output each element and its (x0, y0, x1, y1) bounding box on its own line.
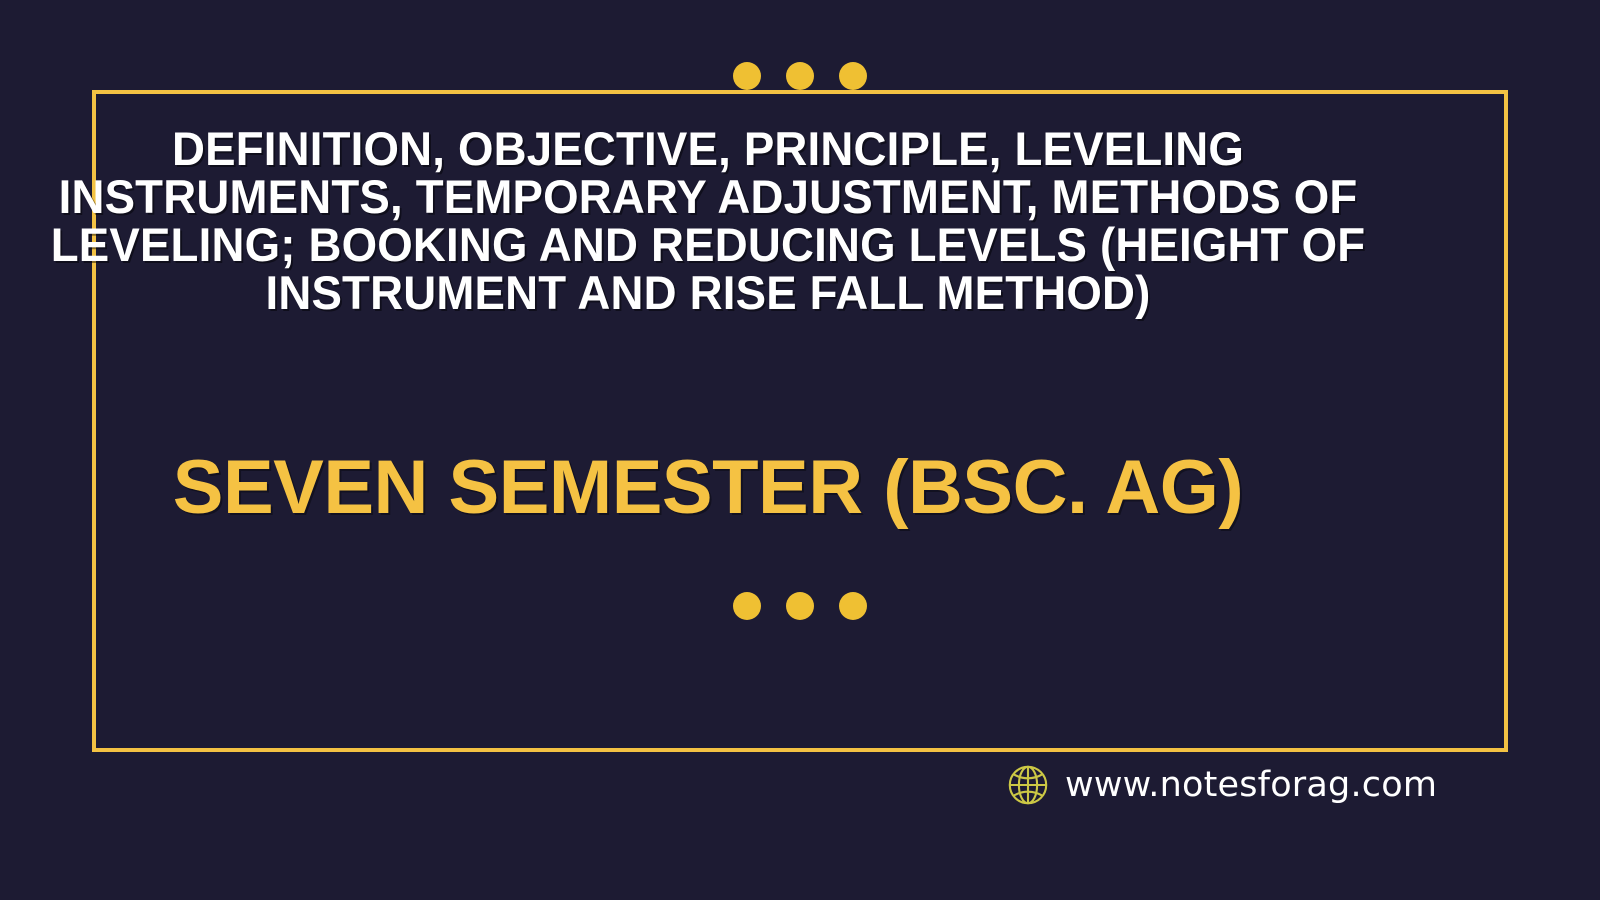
slide-canvas: DEFINITION, OBJECTIVE, PRINCIPLE, LEVELI… (0, 0, 1600, 900)
dot-icon (839, 592, 867, 620)
slide-title: DEFINITION, OBJECTIVE, PRINCIPLE, LEVELI… (50, 125, 1365, 317)
globe-icon (1005, 762, 1051, 808)
dot-icon (733, 62, 761, 90)
website-url: www.notesforag.com (1065, 768, 1437, 803)
slide-subtitle: SEVEN SEMESTER (BSC. AG) (30, 450, 1386, 526)
dot-icon (733, 592, 761, 620)
subtitle-container: SEVEN SEMESTER (BSC. AG) (30, 450, 1386, 526)
dot-icon (839, 62, 867, 90)
bottom-dot-decoration (0, 592, 1600, 620)
footer-website: www.notesforag.com (1005, 762, 1437, 808)
top-dot-decoration (0, 62, 1600, 90)
dot-icon (786, 592, 814, 620)
dot-icon (786, 62, 814, 90)
title-container: DEFINITION, OBJECTIVE, PRINCIPLE, LEVELI… (30, 125, 1386, 317)
